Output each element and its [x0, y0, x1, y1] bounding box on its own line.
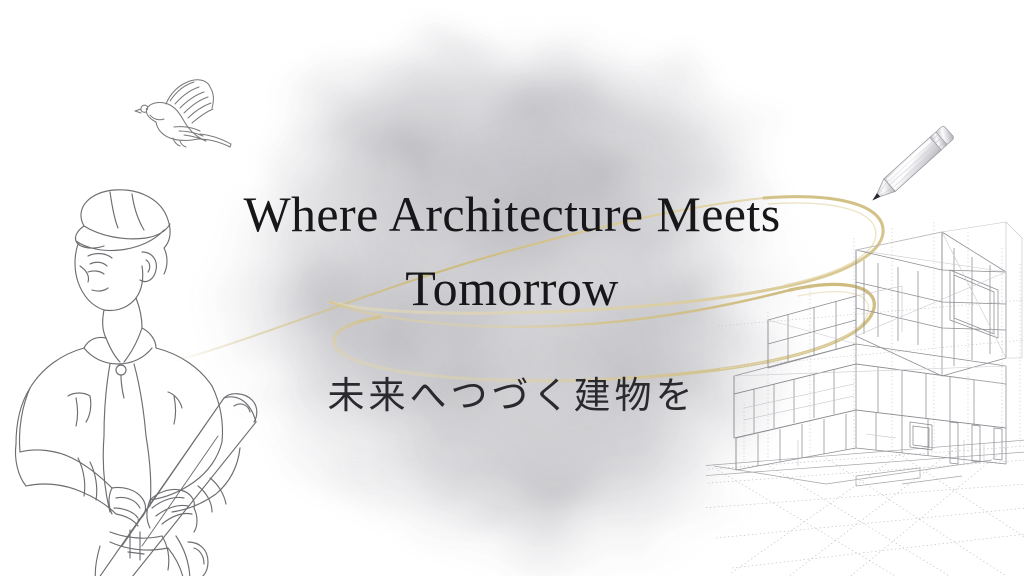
- gold-ribbon-swirl: [168, 150, 908, 400]
- pencil-drawing-swirl: [852, 108, 968, 224]
- architect-worker-line-drawing: [0, 186, 302, 576]
- text-block: Where Architecture Meets Tomorrow 未来へつづく…: [0, 0, 1024, 576]
- hero-banner: Where Architecture Meets Tomorrow 未来へつづく…: [0, 0, 1024, 576]
- subtitle-japanese: 未来へつづく建物を: [152, 365, 872, 419]
- page-title: Where Architecture Meets Tomorrow: [152, 178, 872, 325]
- headline-line-1: Where Architecture Meets: [152, 178, 872, 252]
- headline-line-2: Tomorrow: [152, 252, 872, 326]
- flying-bird-line-drawing: [126, 74, 248, 166]
- watercolor-smoke-texture: [0, 0, 1024, 576]
- architectural-wireframe-building: [706, 208, 1024, 576]
